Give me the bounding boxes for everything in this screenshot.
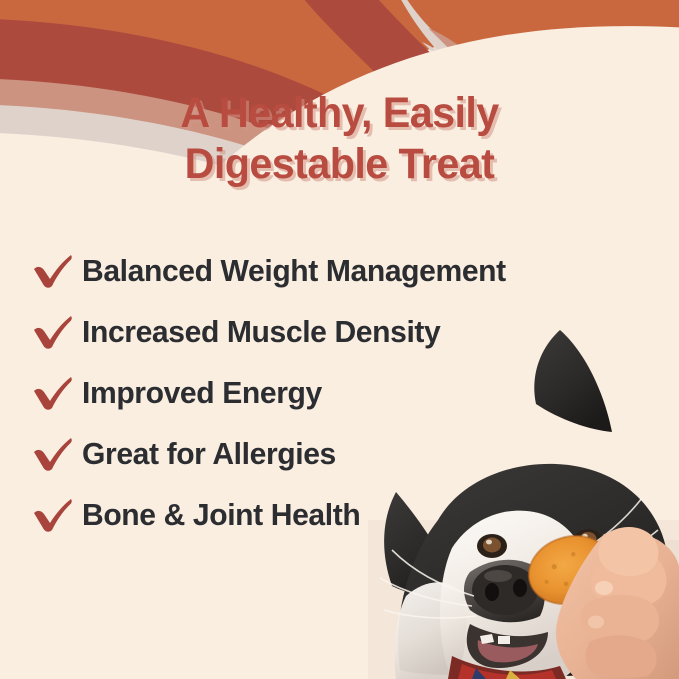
title-line-1: A Healthy, Easily	[14, 88, 666, 139]
list-item: Great for Allergies	[24, 423, 624, 484]
list-item: Bone & Joint Health	[24, 484, 624, 545]
check-icon	[24, 310, 82, 354]
title-line-2: Digestable Treat	[14, 139, 666, 190]
list-item-label: Improved Energy	[82, 376, 322, 410]
list-item: Balanced Weight Management	[24, 240, 624, 301]
list-item-label: Increased Muscle Density	[82, 315, 440, 349]
product-benefits-infographic: A Healthy, Easily Digestable Treat Balan…	[0, 0, 679, 679]
check-icon	[24, 493, 82, 537]
list-item: Increased Muscle Density	[24, 301, 624, 362]
list-item-label: Balanced Weight Management	[82, 254, 506, 288]
list-item-label: Great for Allergies	[82, 437, 336, 471]
list-item-label: Bone & Joint Health	[82, 498, 360, 532]
benefits-list: Balanced Weight Management Increased Mus…	[24, 240, 624, 545]
list-item: Improved Energy	[24, 362, 624, 423]
page-title: A Healthy, Easily Digestable Treat	[0, 88, 679, 190]
check-icon	[24, 371, 82, 415]
check-icon	[24, 249, 82, 293]
check-icon	[24, 432, 82, 476]
